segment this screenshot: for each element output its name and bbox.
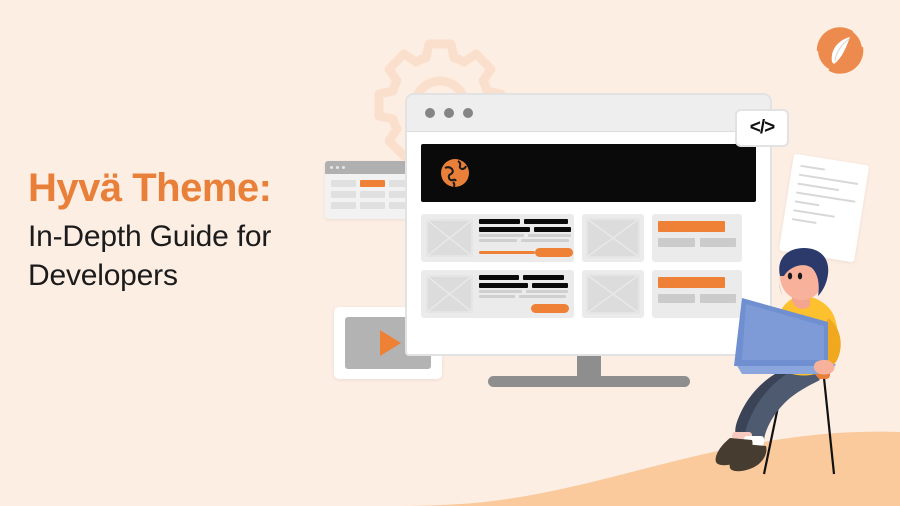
accent-underline	[479, 251, 535, 254]
title-bar-row	[479, 219, 573, 224]
text-line-row	[479, 295, 569, 298]
window-dot-icon	[342, 166, 345, 169]
brand-logo[interactable]	[808, 18, 872, 82]
person-eye	[788, 273, 792, 280]
title-bar	[479, 227, 530, 232]
window-dot-icon	[336, 166, 339, 169]
title-bar	[524, 219, 567, 224]
article-footer	[479, 304, 569, 313]
hyva-theme-banner: Hyvä Theme: In-Depth Guide for Developer…	[0, 0, 900, 506]
article-body	[479, 219, 573, 257]
window-close-dot-icon[interactable]	[425, 108, 435, 118]
placeholder-cell	[360, 202, 385, 209]
text-line-row	[479, 290, 569, 293]
promo-accent-bar	[658, 221, 725, 232]
placeholder-column	[582, 214, 644, 326]
document-line	[792, 218, 817, 224]
text-line	[479, 239, 517, 242]
window-minimize-dot-icon[interactable]	[444, 108, 454, 118]
title-bar-row	[479, 227, 573, 232]
placeholder-cell	[331, 180, 356, 187]
play-triangle-icon[interactable]	[380, 330, 401, 356]
person-hand	[814, 360, 834, 375]
window-maximize-dot-icon[interactable]	[463, 108, 473, 118]
text-line	[479, 295, 515, 298]
image-placeholder	[586, 274, 640, 314]
image-placeholder	[426, 219, 473, 257]
text-line-row	[479, 234, 573, 237]
placeholder-cell	[360, 191, 385, 198]
code-badge: </>	[735, 109, 789, 147]
title-sub-line-1: In-Depth Guide for	[28, 217, 358, 257]
title-bar	[523, 275, 564, 280]
text-line	[479, 234, 524, 237]
title-accent-line: Hyvä Theme:	[28, 166, 358, 211]
page-title: Hyvä Theme: In-Depth Guide for Developer…	[28, 166, 358, 296]
promo-cell	[658, 238, 695, 247]
title-sub-line-2: Developers	[28, 256, 358, 296]
mini-browser-row	[331, 191, 414, 198]
mini-browser-row	[331, 180, 414, 187]
text-line	[528, 234, 571, 237]
globe-icon	[439, 157, 471, 189]
browser-titlebar	[407, 95, 770, 132]
placeholder-cell-accent	[360, 180, 385, 187]
article-card[interactable]	[421, 270, 574, 318]
document-line	[793, 209, 835, 218]
article-body	[479, 275, 569, 313]
placeholder-cell	[331, 202, 356, 209]
text-line	[526, 290, 567, 293]
title-bar	[479, 275, 519, 280]
title-bar	[479, 219, 520, 224]
title-bar-row	[479, 275, 569, 280]
placeholder-card[interactable]	[582, 214, 644, 262]
cta-button[interactable]	[531, 304, 569, 313]
person-eye	[798, 273, 802, 280]
image-placeholder	[586, 218, 640, 258]
placeholder-card[interactable]	[582, 270, 644, 318]
title-bar	[534, 227, 572, 232]
hero-banner	[421, 144, 756, 202]
text-line	[519, 295, 566, 298]
window-dot-icon	[330, 166, 333, 169]
mini-browser-row	[331, 202, 414, 209]
text-line	[521, 239, 570, 242]
text-line-row	[479, 239, 573, 242]
article-card[interactable]	[421, 214, 574, 262]
person-with-laptop-illustration	[706, 246, 876, 486]
document-line	[795, 200, 820, 206]
article-column	[421, 214, 574, 326]
title-bar	[479, 283, 528, 288]
document-line	[800, 165, 825, 171]
placeholder-cell	[331, 191, 356, 198]
monitor-stand-base	[488, 376, 690, 387]
text-line	[479, 290, 522, 293]
article-footer	[479, 248, 573, 257]
document-line	[797, 183, 839, 192]
image-placeholder	[426, 275, 473, 313]
promo-cell	[658, 294, 695, 303]
cta-button[interactable]	[535, 248, 573, 257]
title-bar	[532, 283, 568, 288]
title-bar-row	[479, 283, 569, 288]
